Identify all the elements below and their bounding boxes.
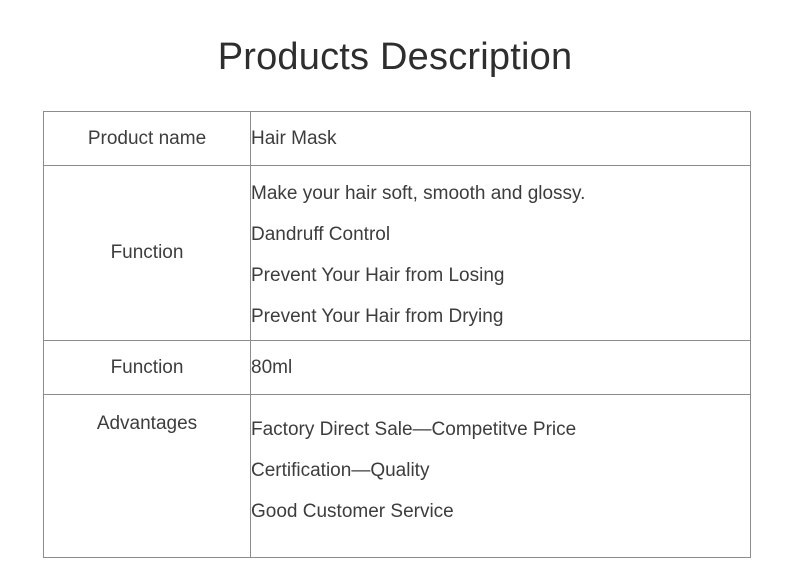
value-line-list: Make your hair soft, smooth and glossy. … bbox=[251, 173, 750, 337]
row-label-product-name: Product name bbox=[44, 112, 251, 166]
row-value-advantages: Factory Direct Sale—Competitve Price Cer… bbox=[251, 395, 751, 558]
value-line: Make your hair soft, smooth and glossy. bbox=[251, 173, 750, 214]
table-row: Function Make your hair soft, smooth and… bbox=[44, 166, 751, 341]
row-value-product-name: Hair Mask bbox=[251, 112, 751, 166]
row-label-function: Function bbox=[44, 166, 251, 341]
row-value-function: Make your hair soft, smooth and glossy. … bbox=[251, 166, 751, 341]
table-row: Product name Hair Mask bbox=[44, 112, 751, 166]
product-description-page: Products Description Product name Hair M… bbox=[0, 0, 790, 570]
row-label-advantages: Advantages bbox=[44, 395, 251, 558]
row-value-volume: 80ml bbox=[251, 341, 751, 395]
row-label-volume: Function bbox=[44, 341, 251, 395]
product-specification-table: Product name Hair Mask Function Make you… bbox=[43, 111, 751, 558]
value-line-list: Hair Mask bbox=[251, 118, 750, 159]
page-title: Products Description bbox=[0, 36, 790, 80]
table-row: Function 80ml bbox=[44, 341, 751, 395]
value-line-list: Factory Direct Sale—Competitve Price Cer… bbox=[251, 409, 750, 532]
value-line: Certification—Quality bbox=[251, 450, 750, 491]
table-row: Advantages Factory Direct Sale—Competitv… bbox=[44, 395, 751, 558]
value-line: Prevent Your Hair from Losing bbox=[251, 255, 750, 296]
value-line: Prevent Your Hair from Drying bbox=[251, 296, 750, 337]
value-line: 80ml bbox=[251, 347, 750, 388]
value-line: Factory Direct Sale—Competitve Price bbox=[251, 409, 750, 450]
value-line: Good Customer Service bbox=[251, 491, 750, 532]
value-line: Dandruff Control bbox=[251, 214, 750, 255]
value-line: Hair Mask bbox=[251, 118, 750, 159]
value-line-list: 80ml bbox=[251, 347, 750, 388]
